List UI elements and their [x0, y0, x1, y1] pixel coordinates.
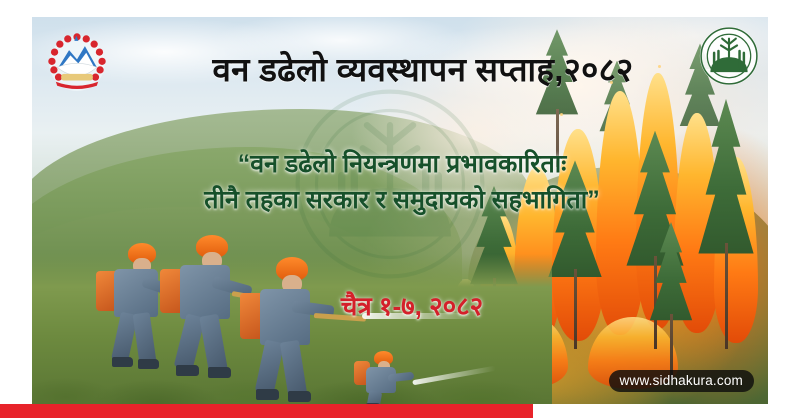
ember-particle — [560, 113, 563, 116]
website-badge[interactable]: www.sidhakura.com — [609, 370, 754, 392]
tree-icon — [648, 231, 694, 381]
bottom-red-bar — [0, 404, 533, 418]
firefighter-figure — [230, 257, 360, 404]
fire-glow — [378, 87, 768, 404]
firefighter-figure — [352, 347, 432, 404]
flame-shape — [480, 213, 520, 343]
flame-shape — [714, 157, 758, 343]
page-title: वन डढेलो व्यवस्थापन सप्ताह,२०८२ — [128, 41, 718, 95]
poster-artwork: रुख रोपौ, वन जोगाऔं वन डढेलो व्यवस्थापन … — [32, 17, 768, 404]
nepal-coat-of-arms-icon — [44, 29, 110, 95]
slogan-line-1: “वन डढेलो नियन्त्रणमा प्रभावकारिताः — [238, 150, 567, 178]
poster-root: रुख रोपौ, वन जोगाऔं वन डढेलो व्यवस्थापन … — [0, 0, 800, 418]
flame-shape — [498, 317, 568, 387]
svg-text:रुख रोपौ, वन जोगाऔं: रुख रोपौ, वन जोगाऔं — [709, 25, 751, 26]
date-range: चैत्र १-७, २०८२ — [242, 287, 582, 323]
water-spray — [412, 366, 496, 386]
tree-icon — [696, 113, 756, 349]
poster-slogan: “वन डढेलो नियन्त्रणमा प्रभावकारिताः तीनै… — [122, 147, 682, 218]
forest-emblem-motto: रुख रोपौ, वन जोगाऔं — [709, 25, 751, 26]
flame-shape — [674, 113, 720, 333]
slogan-line-2: तीनै तहका सरकार र समुदायको सहभागिता” — [122, 183, 682, 219]
